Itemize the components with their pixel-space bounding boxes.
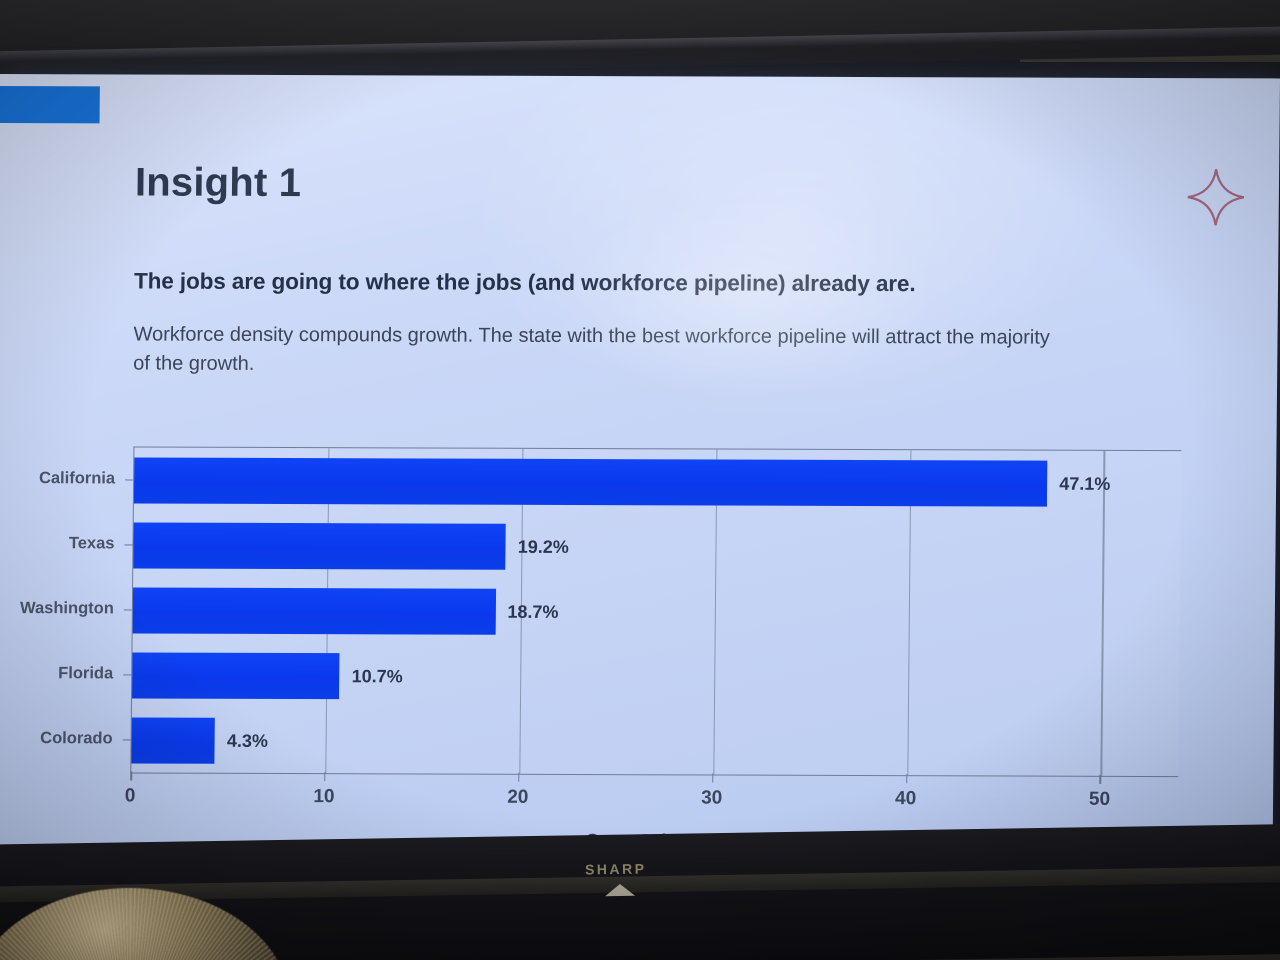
slide-subtitle: The jobs are going to where the jobs (an… xyxy=(134,268,916,297)
slide-body-text: Workforce density compounds growth. The … xyxy=(133,320,1064,382)
chart-x-tick xyxy=(712,773,714,782)
chart-bar-value-label: 10.7% xyxy=(352,666,403,687)
chart-x-tick xyxy=(324,772,326,781)
chart-y-tick xyxy=(123,739,131,741)
chart-category-label: California xyxy=(39,469,115,488)
chart-x-tick-label: 0 xyxy=(125,785,136,807)
page-title: Insight 1 xyxy=(135,160,302,206)
chart-bar xyxy=(133,587,496,634)
chart-bar-value-label: 18.7% xyxy=(507,601,558,622)
chart-x-tick xyxy=(518,773,520,782)
chart-category-label: Washington xyxy=(20,599,114,618)
chart-category-label: Texas xyxy=(69,534,115,553)
photo-of-presentation-screen: Insight 1 The jobs are going to where th… xyxy=(0,0,1280,960)
chart-x-tick-label: 30 xyxy=(701,787,722,809)
chart-y-tick xyxy=(124,609,132,611)
accent-rectangle xyxy=(0,86,100,123)
chart-bar-value-label: 4.3% xyxy=(227,730,268,751)
chart-x-tick-label: 50 xyxy=(1089,789,1110,811)
chart-bar xyxy=(132,652,340,699)
presentation-slide: Insight 1 The jobs are going to where th… xyxy=(0,74,1280,856)
chart-x-tick xyxy=(906,774,908,783)
chevron-up-icon xyxy=(605,884,635,896)
brand-logo: SHARP xyxy=(585,861,647,878)
chart-x-axis: 01020304050 xyxy=(0,429,1277,433)
chart-x-tick xyxy=(130,771,132,780)
chart-y-tick xyxy=(124,544,132,546)
bar-chart: 47.1%19.2%18.7%10.7%4.3% CaliforniaTexas… xyxy=(0,429,1277,853)
chart-gridline xyxy=(1101,451,1106,776)
chart-x-tick-label: 40 xyxy=(895,788,916,810)
chart-bar xyxy=(131,717,215,763)
chart-bar-value-label: 47.1% xyxy=(1059,473,1110,494)
chart-category-label: Florida xyxy=(58,664,113,683)
chart-bar-value-label: 19.2% xyxy=(518,536,569,557)
chart-x-tick xyxy=(1100,775,1102,784)
chart-bar xyxy=(133,522,506,569)
chart-x-tick-label: 10 xyxy=(313,786,334,808)
chart-category-label: Colorado xyxy=(40,729,113,748)
chart-plot-area: 47.1%19.2%18.7%10.7%4.3% xyxy=(130,446,1181,777)
four-point-star-icon xyxy=(1185,166,1248,228)
chart-x-tick-label: 20 xyxy=(507,787,528,809)
chart-bar xyxy=(134,457,1048,506)
chart-y-tick xyxy=(125,479,133,481)
chart-y-axis-labels: CaliforniaTexasWashingtonFloridaColorado xyxy=(0,429,1277,433)
chart-y-tick xyxy=(123,674,131,676)
